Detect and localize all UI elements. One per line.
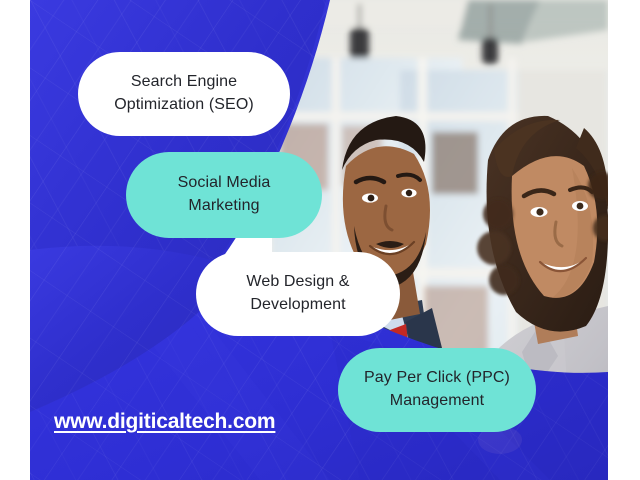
service-pill-social-media-marketing-text: Social Media Marketing xyxy=(178,172,271,217)
left-white-margin xyxy=(0,0,30,480)
service-pill-web-design-development-text: Web Design & Development xyxy=(246,271,349,316)
service-pill-seo-text: Search Engine Optimization (SEO) xyxy=(114,71,254,116)
service-pill-social-media-marketing[interactable]: Social Media Marketing xyxy=(126,152,322,238)
service-pill-ppc-management[interactable]: Pay Per Click (PPC) Management xyxy=(338,348,536,432)
service-pill-seo[interactable]: Search Engine Optimization (SEO) xyxy=(78,52,290,136)
marketing-banner: Search Engine Optimization (SEO) Social … xyxy=(0,0,640,480)
right-white-margin xyxy=(608,0,640,480)
service-pill-ppc-management-text: Pay Per Click (PPC) Management xyxy=(364,367,510,412)
service-pill-web-design-development[interactable]: Web Design & Development xyxy=(196,252,400,336)
website-url-link[interactable]: www.digiticaltech.com xyxy=(54,410,275,434)
